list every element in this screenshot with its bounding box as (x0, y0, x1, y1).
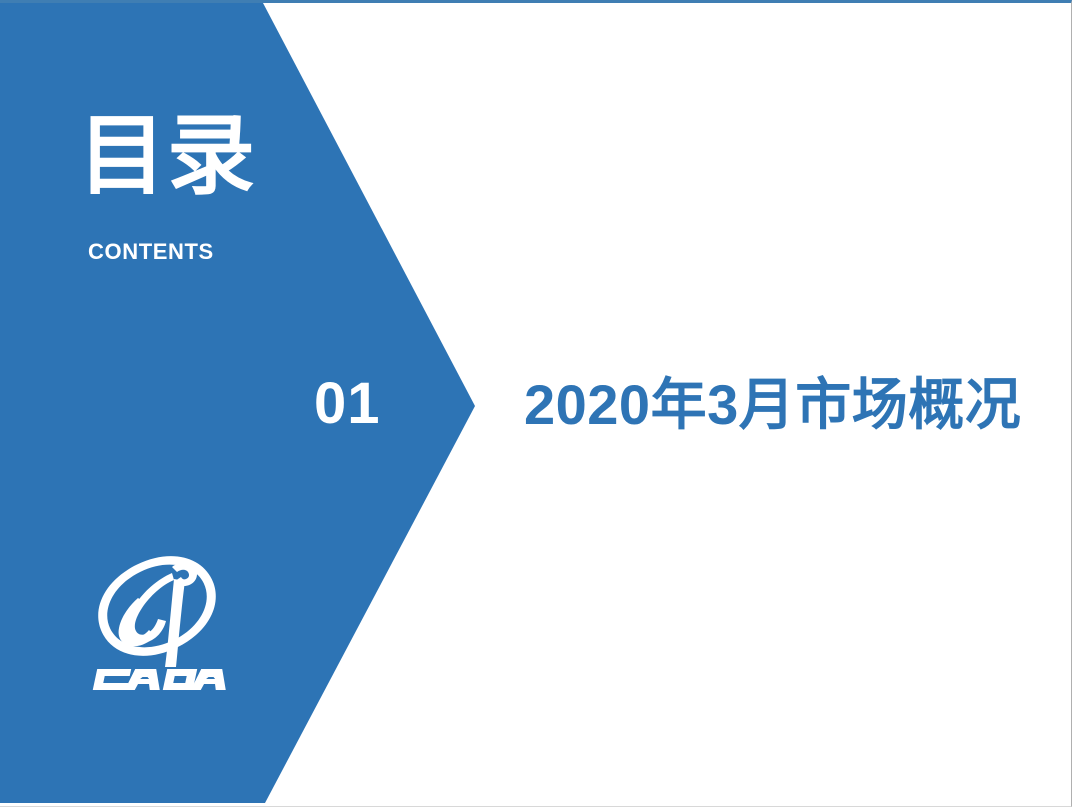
cada-logo-icon (88, 543, 226, 693)
presentation-slide: 目录 CONTENTS 01 2020年3月市场概况 (0, 0, 1072, 807)
section-title: 2020年3月市场概况 (524, 374, 1021, 436)
section-number: 01 (314, 375, 381, 433)
contents-heading-cn: 目录 (78, 112, 256, 200)
contents-heading-en: CONTENTS (88, 241, 214, 263)
